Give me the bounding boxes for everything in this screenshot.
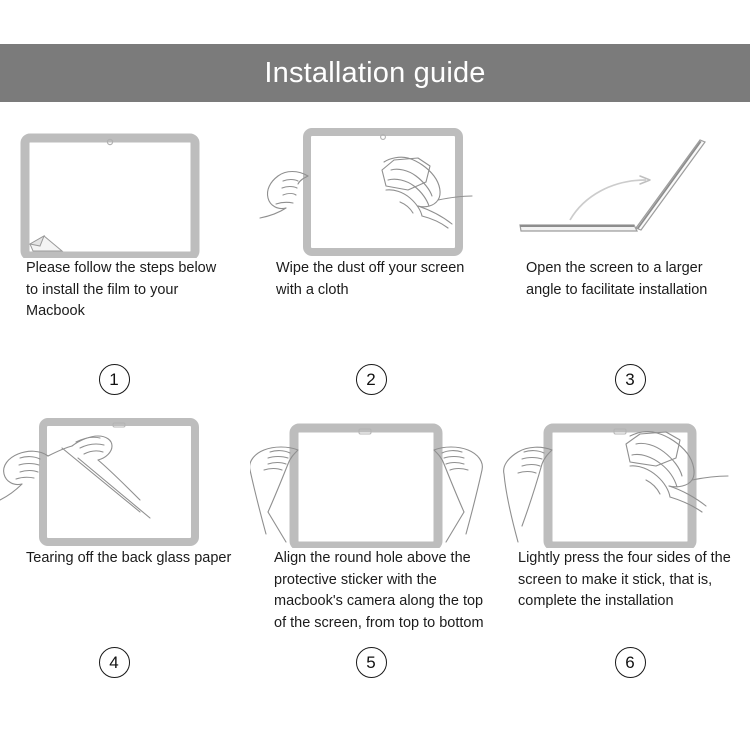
step-caption-2: Wipe the dust off your screen with a clo… <box>250 258 500 301</box>
step-caption-3: Open the screen to a larger angle to fac… <box>500 258 750 301</box>
step-card-4: Tearing off the back glass paper 4 <box>0 408 250 708</box>
page-header-bar: Installation guide <box>0 44 750 102</box>
step-badge-6: 6 <box>615 647 646 678</box>
step-badge-4: 4 <box>99 647 130 678</box>
step-badge-3: 3 <box>615 364 646 395</box>
step-card-3: Open the screen to a larger angle to fac… <box>500 118 750 408</box>
step-card-1: Please follow the steps below to install… <box>0 118 250 408</box>
step-badge-2: 2 <box>356 364 387 395</box>
illustration-laptop-side-view-opening-arrow <box>500 118 750 258</box>
step-caption-1: Please follow the steps below to install… <box>0 258 250 323</box>
step-caption-6: Lightly press the four sides of the scre… <box>500 548 750 613</box>
illustration-hand-pressing-four-sides-of-screen <box>500 408 750 548</box>
steps-row-bottom: Tearing off the back glass paper 4 <box>0 408 750 708</box>
steps-row-top: Please follow the steps below to install… <box>0 118 750 408</box>
step-card-6: Lightly press the four sides of the scre… <box>500 408 750 708</box>
step-card-5: Align the round hole above the protectiv… <box>250 408 500 708</box>
step-badge-5: 5 <box>356 647 387 678</box>
illustration-two-hands-aligning-film-over-screen <box>250 408 500 548</box>
illustration-hands-tearing-off-back-glass-paper <box>0 408 250 548</box>
step-card-2: Wipe the dust off your screen with a clo… <box>250 118 500 408</box>
step-badge-1: 1 <box>99 364 130 395</box>
illustration-hands-wiping-screen-with-cloth <box>250 118 500 258</box>
illustration-macbook-screen-with-peeling-film-corner <box>0 118 250 258</box>
steps-grid: Please follow the steps below to install… <box>0 118 750 708</box>
step-caption-5: Align the round hole above the protectiv… <box>250 548 500 634</box>
step-caption-4: Tearing off the back glass paper <box>0 548 250 570</box>
page-title: Installation guide <box>264 59 485 88</box>
